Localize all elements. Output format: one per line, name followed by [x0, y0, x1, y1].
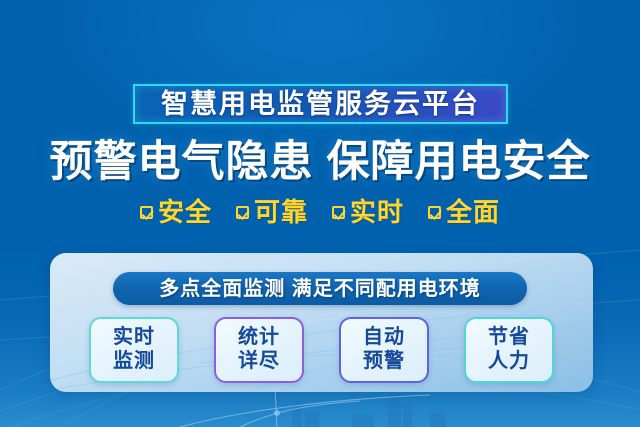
feature-tag-label: 全面	[446, 199, 500, 225]
feature-card-realtime-monitoring[interactable]: 实时 监测	[89, 317, 179, 383]
feature-tag-label: 实时	[350, 199, 404, 225]
feature-tag-row: 安全 可靠 实时 全面	[0, 199, 640, 225]
feature-tag-label: 安全	[158, 199, 212, 225]
checkbox-checked-icon	[428, 206, 441, 219]
feature-card-save-manpower[interactable]: 节省 人力	[464, 317, 554, 383]
promo-poster: 智慧用电监管服务云平台 预警电气隐患 保障用电安全 安全 可靠 实时 全面	[0, 0, 640, 427]
checkbox-checked-icon	[332, 206, 345, 219]
feature-card-line2: 人力	[488, 350, 530, 374]
feature-card-auto-alarm[interactable]: 自动 预警	[339, 317, 429, 383]
sub-banner: 多点全面监测 满足不同配用电环境	[113, 272, 527, 305]
city-skyline-decoration	[0, 387, 640, 427]
feature-card-line1: 统计	[238, 326, 280, 350]
feature-tag: 实时	[332, 199, 404, 225]
feature-card-line1: 实时	[113, 326, 155, 350]
checkbox-checked-icon	[236, 206, 249, 219]
feature-card-detailed-statistics[interactable]: 统计 详尽	[214, 317, 304, 383]
feature-tag: 全面	[428, 199, 500, 225]
platform-title-text: 智慧用电监管服务云平台	[161, 91, 480, 118]
feature-card-line1: 自动	[363, 326, 405, 350]
feature-card-line2: 预警	[363, 350, 405, 374]
feature-card-line2: 监测	[113, 350, 155, 374]
feature-card-line1: 节省	[488, 326, 530, 350]
feature-tag: 安全	[140, 199, 212, 225]
checkbox-checked-icon	[140, 206, 153, 219]
feature-card-line2: 详尽	[238, 350, 280, 374]
feature-card-row: 实时 监测 统计 详尽 自动 预警 节省 人力	[50, 316, 593, 384]
main-headline: 预警电气隐患 保障用电安全	[0, 141, 640, 184]
sub-banner-text: 多点全面监测 满足不同配用电环境	[159, 279, 481, 299]
feature-tag-label: 可靠	[254, 199, 308, 225]
platform-title-box: 智慧用电监管服务云平台	[133, 84, 508, 124]
feature-tag: 可靠	[236, 199, 308, 225]
